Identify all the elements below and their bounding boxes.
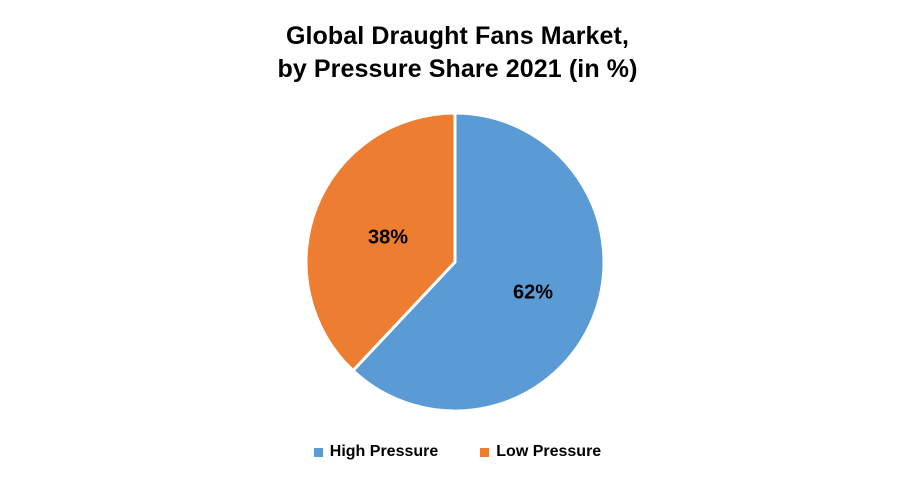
legend-label-low-pressure: Low Pressure <box>496 443 601 461</box>
pie-plot-area: 62% 38% <box>0 0 915 486</box>
legend-item-low-pressure[interactable]: Low Pressure <box>480 443 601 461</box>
chart-legend: High Pressure Low Pressure <box>0 443 915 461</box>
legend-swatch-low-pressure <box>480 448 489 457</box>
pie-slice-group <box>306 113 604 411</box>
pie-svg <box>0 0 915 486</box>
legend-label-high-pressure: High Pressure <box>330 443 438 461</box>
pie-chart-figure: Global Draught Fans Market, by Pressure … <box>0 0 915 486</box>
legend-item-high-pressure[interactable]: High Pressure <box>314 443 438 461</box>
legend-swatch-high-pressure <box>314 448 323 457</box>
